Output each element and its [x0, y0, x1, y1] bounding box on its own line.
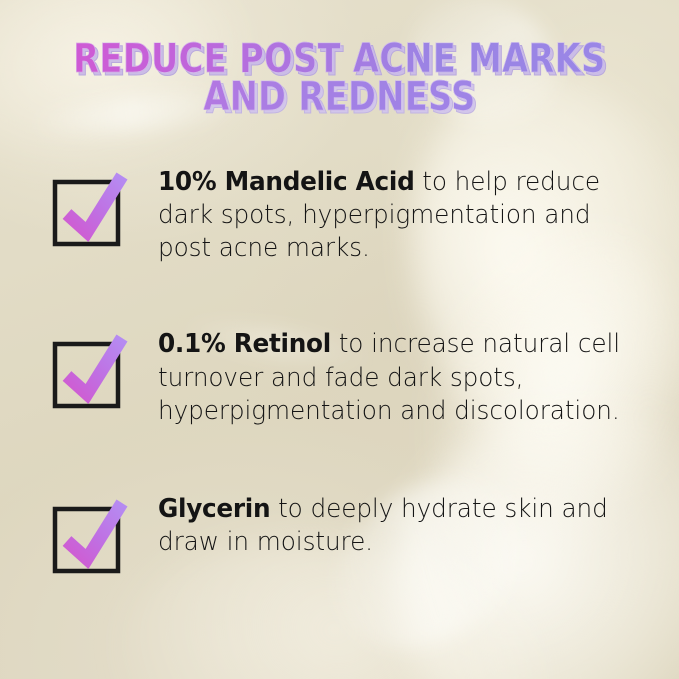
checkbox-checked-icon	[46, 497, 158, 581]
checkbox-checked-icon	[46, 170, 158, 254]
feature-text-retinol: 0.1% Retinol to increase natural cell tu…	[158, 326, 624, 427]
product-benefits-infographic: REDUCE POST ACNE MARKS AND REDNESS	[0, 0, 679, 679]
feature-item-retinol: 0.1% Retinol to increase natural cell tu…	[0, 326, 679, 427]
feature-list: 10% Mandelic Acid to help reduce dark sp…	[0, 160, 679, 581]
feature-lead-glycerin: Glycerin	[158, 494, 270, 524]
feature-text-glycerin: Glycerin to deeply hydrate skin and draw…	[158, 491, 624, 559]
checkbox-checked-icon	[46, 332, 158, 416]
feature-text-mandelic-acid: 10% Mandelic Acid to help reduce dark sp…	[158, 164, 624, 265]
feature-item-glycerin: Glycerin to deeply hydrate skin and draw…	[0, 491, 679, 581]
feature-item-mandelic-acid: 10% Mandelic Acid to help reduce dark sp…	[0, 164, 679, 265]
headline-line-2: AND REDNESS	[24, 78, 655, 116]
feature-lead-mandelic-acid: 10% Mandelic Acid	[158, 167, 414, 197]
feature-lead-retinol: 0.1% Retinol	[158, 329, 331, 359]
headline-line-2-text: AND REDNESS	[203, 74, 475, 120]
headline: REDUCE POST ACNE MARKS AND REDNESS	[0, 40, 679, 116]
headline-line-1: REDUCE POST ACNE MARKS	[24, 40, 655, 78]
